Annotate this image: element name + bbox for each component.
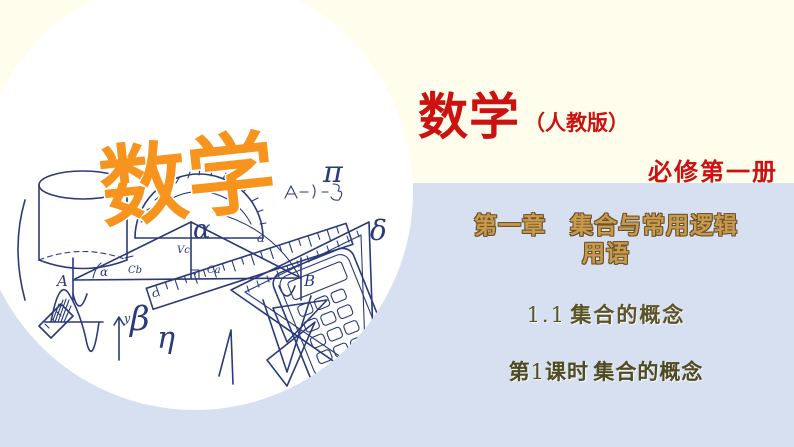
edition-line: 必修第一册 (418, 160, 778, 185)
math-doodle-illustration: A B α c Cb Ca Vc a (0, 0, 415, 420)
course-title-edition-tag: （人教版） (524, 113, 629, 134)
greek-delta-label: δ (370, 214, 387, 247)
greek-beta-label: β (128, 299, 150, 339)
period-number: 1 (531, 360, 545, 384)
edition-label: 必修第一册 (648, 158, 778, 186)
svg-text:B: B (303, 272, 315, 290)
period-title: 第1课时 集合的概念 (420, 362, 792, 384)
greek-eta-label: η (157, 321, 175, 356)
section-title: 1.1 集合的概念 (420, 305, 792, 327)
svg-text:y: y (123, 312, 131, 325)
period-suffix: 课时 (545, 360, 589, 384)
greek-pi-label: π (322, 155, 344, 190)
svg-text:Cb: Cb (128, 265, 142, 276)
illustration-big-word: 数学 (94, 120, 280, 241)
svg-text:Vc: Vc (177, 245, 190, 256)
period-title-label: 集合的概念 (593, 360, 703, 384)
slide-root: A B α c Cb Ca Vc a (0, 0, 794, 447)
course-title-main: 数学 (418, 92, 520, 142)
chapter-title-line2: 用语 (420, 240, 792, 268)
course-title: 数学（人教版） (418, 92, 794, 142)
section-title-label: 集合的概念 (570, 303, 685, 327)
period-prefix: 第 (509, 360, 531, 384)
chapter-title-line1: 第一章 集合与常用逻辑 (420, 212, 792, 240)
svg-text:A: A (55, 272, 68, 290)
section-number: 1.1 (527, 303, 566, 327)
chapter-title: 第一章 集合与常用逻辑 用语 (420, 212, 792, 268)
